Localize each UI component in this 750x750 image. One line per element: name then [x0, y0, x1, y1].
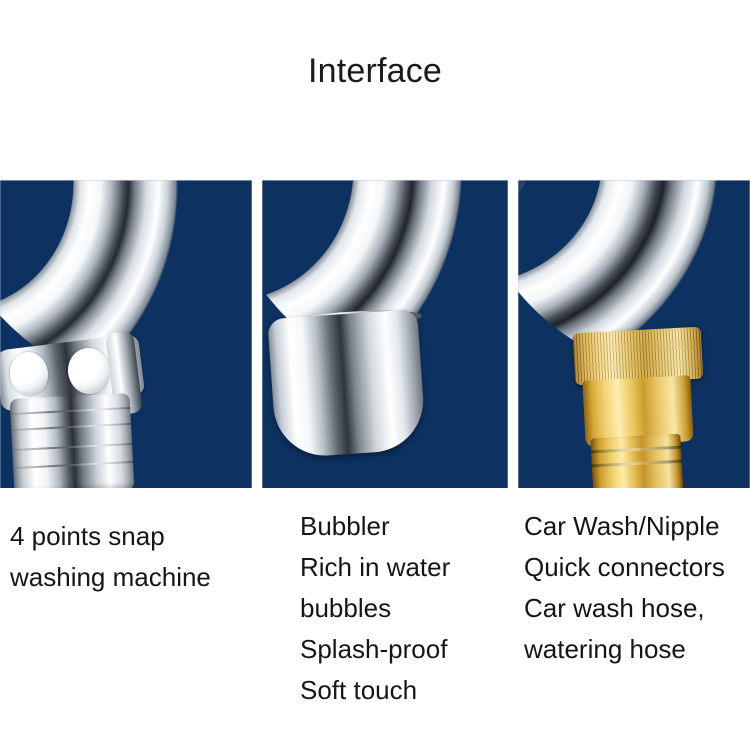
brand-emblem-icon	[518, 180, 529, 206]
faucet-illustration-bubbler	[262, 180, 508, 484]
ribbed-adapter-body	[10, 393, 135, 488]
caption-car-wash-nipple: Car Wash/Nipple Quick connectors Car was…	[524, 506, 725, 670]
product-image-strip	[0, 180, 750, 488]
caption-line: Car wash hose,	[524, 588, 725, 629]
bubbler-cap	[267, 309, 426, 459]
caption-line: Rich in water	[300, 547, 450, 588]
caption-line: Quick connectors	[524, 547, 725, 588]
caption-line: 4 points snap	[10, 516, 211, 557]
brass-nipple-tip	[590, 434, 683, 488]
product-image-panel-car-wash-nipple	[518, 180, 750, 488]
page-title: Interface	[0, 52, 750, 91]
product-image-panel-4-point-snap	[0, 180, 252, 488]
product-infographic: Interface	[0, 0, 750, 750]
product-image-panel-bubbler	[262, 180, 508, 488]
caption-line: watering hose	[524, 629, 725, 670]
groove-line	[591, 446, 681, 454]
rib-line	[10, 407, 130, 415]
faucet-illustration-4-point-snap	[0, 180, 252, 488]
caption-line: bubbles	[300, 588, 450, 629]
groove-line	[592, 460, 682, 468]
caption-line: Splash-proof	[300, 629, 450, 670]
caption-line: washing machine	[10, 557, 211, 598]
rib-line	[12, 443, 132, 451]
caption-bubbler: Bubbler Rich in water bubbles Splash-pro…	[300, 506, 450, 711]
caption-line: Bubbler	[300, 506, 450, 547]
caption-line: Soft touch	[300, 670, 450, 711]
faucet-illustration-car-wash-nipple	[518, 180, 750, 482]
rib-line	[13, 461, 133, 469]
caption-line: Car Wash/Nipple	[524, 506, 725, 547]
caption-4-point-snap: 4 points snap washing machine	[10, 516, 211, 598]
rib-line	[11, 423, 131, 431]
